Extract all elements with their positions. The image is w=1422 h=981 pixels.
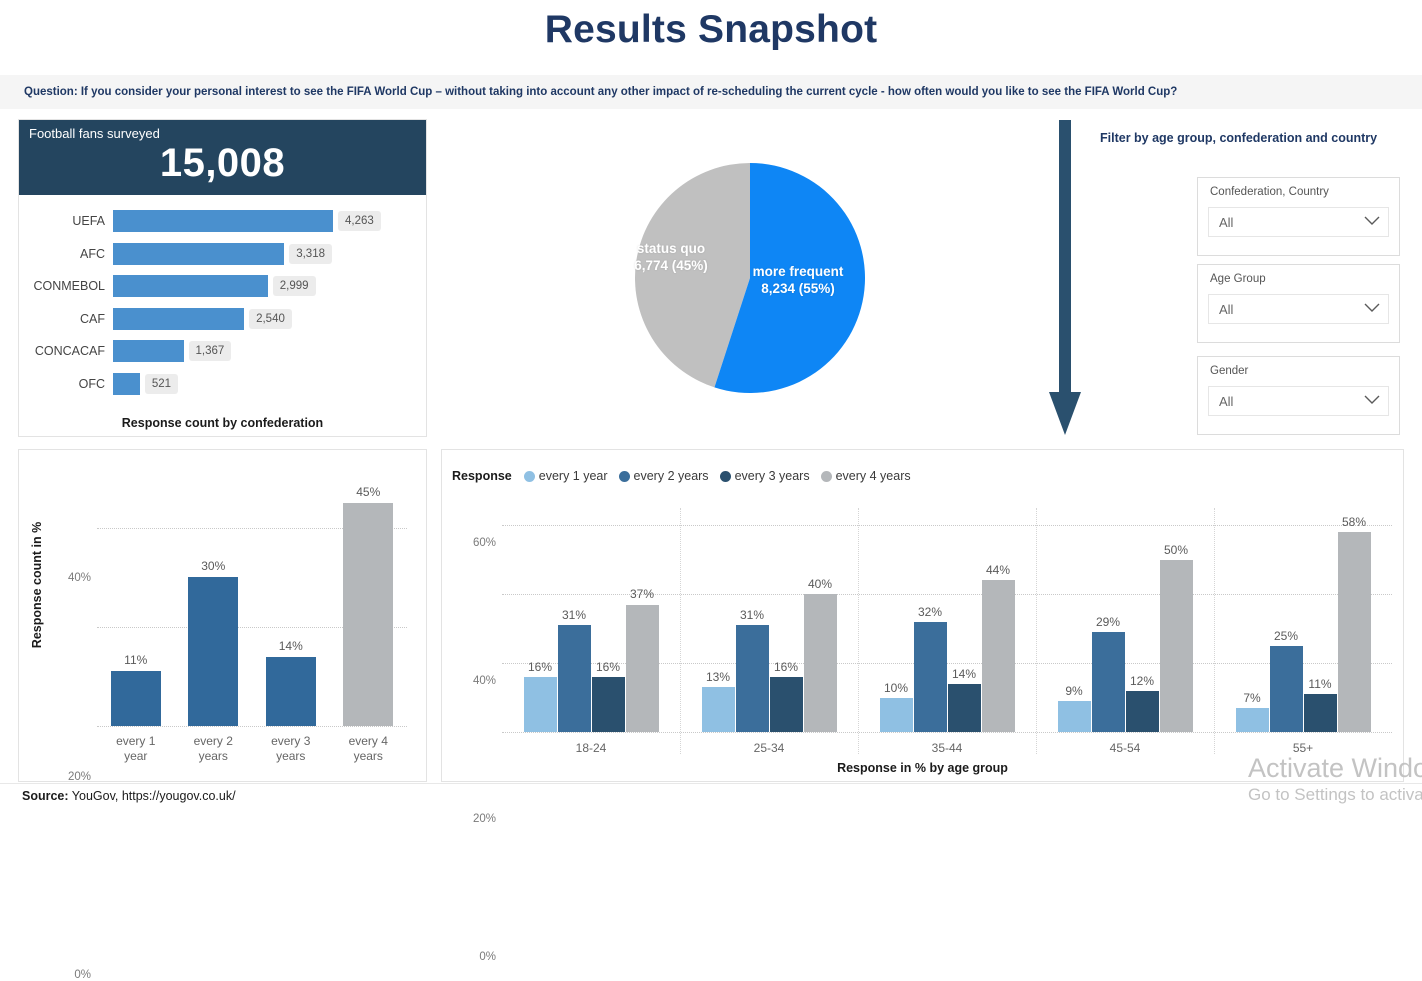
slicer-gender-value: All bbox=[1219, 394, 1233, 409]
confederation-bar-row: OFC521 bbox=[19, 370, 426, 398]
slicer-confederation-country-label: Confederation, Country bbox=[1210, 186, 1329, 198]
y-axis-tick-label: 0% bbox=[479, 951, 496, 963]
grouped-bar-value: 31% bbox=[740, 608, 764, 622]
grouped-bar-value: 16% bbox=[774, 660, 798, 674]
pie-label-more-frequent-value: 8,234 (55%) bbox=[761, 281, 835, 296]
confederation-bar-track: 2,999 bbox=[113, 273, 426, 299]
category-separator bbox=[1036, 508, 1037, 754]
column-bar-value: 11% bbox=[124, 653, 147, 667]
grouped-bar-value: 9% bbox=[1065, 684, 1082, 698]
x-axis-category-label: 18-24 bbox=[576, 741, 607, 755]
y-axis-tick-label: 40% bbox=[68, 572, 91, 584]
grouped-bar[interactable] bbox=[1092, 632, 1125, 732]
pie-label-status-quo-name: status quo bbox=[637, 241, 705, 256]
x-axis-category-label: every 3years bbox=[271, 734, 310, 764]
grouped-bar-value: 25% bbox=[1274, 629, 1298, 643]
confederation-bar-track: 4,263 bbox=[113, 208, 426, 234]
legend-label: every 3 years bbox=[735, 469, 810, 483]
confederation-bar-track: 1,367 bbox=[113, 338, 426, 364]
gridline: 0% bbox=[97, 726, 407, 727]
column-bar[interactable] bbox=[188, 577, 238, 726]
filter-panel-title: Filter by age group, confederation and c… bbox=[1100, 131, 1377, 145]
column-bar-value: 45% bbox=[356, 485, 380, 499]
grouped-chart-caption: Response in % by age group bbox=[442, 761, 1403, 775]
grouped-bar[interactable] bbox=[736, 625, 769, 732]
grouped-bar[interactable] bbox=[804, 594, 837, 732]
legend-label: every 1 year bbox=[539, 469, 608, 483]
grouped-bar-value: 58% bbox=[1342, 515, 1366, 529]
confederation-bar-fill[interactable] bbox=[113, 308, 244, 330]
confederation-bar-value: 4,263 bbox=[338, 211, 381, 231]
pie-label-status-quo-value: 6,774 (45%) bbox=[634, 258, 708, 273]
column-bar-value: 14% bbox=[279, 639, 303, 653]
slicer-gender-label: Gender bbox=[1210, 365, 1248, 377]
confederation-bar-fill[interactable] bbox=[113, 340, 184, 362]
category-separator bbox=[858, 508, 859, 754]
dashboard-page: Results Snapshot Question: If you consid… bbox=[0, 0, 1422, 815]
confederation-chart-caption: Response count by confederation bbox=[19, 416, 426, 430]
confederation-bar-row: CONMEBOL2,999 bbox=[19, 272, 426, 300]
kpi-value: 15,008 bbox=[19, 141, 426, 186]
category-separator bbox=[1214, 508, 1215, 754]
confederation-bar-label: CONMEBOL bbox=[19, 279, 113, 293]
column-chart-plot-area: 0%20%40%11%every 1year30%every 2years14%… bbox=[97, 478, 407, 726]
confederation-bar-value: 3,318 bbox=[289, 244, 332, 264]
confederation-bar-label: UEFA bbox=[19, 214, 113, 228]
legend-item[interactable]: every 2 years bbox=[619, 469, 709, 483]
grouped-bar[interactable] bbox=[982, 580, 1015, 732]
grouped-bar[interactable] bbox=[1338, 532, 1371, 732]
grouped-bar[interactable] bbox=[948, 684, 981, 732]
confederation-bar-row: AFC3,318 bbox=[19, 240, 426, 268]
column-chart-y-axis-title: Response count in % bbox=[30, 505, 44, 665]
pie-label-more-frequent: more frequent 8,234 (55%) bbox=[718, 263, 878, 297]
slicer-age-group-label: Age Group bbox=[1210, 273, 1266, 285]
column-bar[interactable] bbox=[111, 671, 161, 726]
response-split-pie-chart: status quo 6,774 (45%) more frequent 8,2… bbox=[600, 128, 900, 428]
down-arrow-icon bbox=[1048, 120, 1082, 435]
column-bar[interactable] bbox=[343, 503, 393, 726]
grouped-bar-value: 13% bbox=[706, 670, 730, 684]
confederation-bar-fill[interactable] bbox=[113, 373, 140, 395]
legend-color-swatch bbox=[619, 471, 630, 482]
slicer-confederation-country-value: All bbox=[1219, 215, 1233, 230]
y-axis-tick-label: 40% bbox=[473, 675, 496, 687]
slicer-confederation-country-dropdown[interactable]: All bbox=[1208, 207, 1389, 237]
confederation-bar-row: UEFA4,263 bbox=[19, 207, 426, 235]
chevron-down-icon[interactable] bbox=[1364, 300, 1380, 318]
grouped-bar-value: 16% bbox=[528, 660, 552, 674]
legend-color-swatch bbox=[524, 471, 535, 482]
grouped-bar-value: 50% bbox=[1164, 543, 1188, 557]
category-separator bbox=[680, 508, 681, 754]
page-title: Results Snapshot bbox=[0, 8, 1422, 52]
question-text: Question: If you consider your personal … bbox=[0, 86, 1177, 98]
overall-response-column-chart: Response count in % 0%20%40%11%every 1ye… bbox=[18, 449, 427, 782]
x-axis-category-label: 45-54 bbox=[1110, 741, 1141, 755]
confederation-bar-row: CONCACAF1,367 bbox=[19, 337, 426, 365]
grouped-bar[interactable] bbox=[1160, 560, 1193, 732]
confederation-bar-track: 2,540 bbox=[113, 306, 426, 332]
confederation-bar-value: 2,540 bbox=[249, 309, 292, 329]
confederation-bar-row: CAF2,540 bbox=[19, 305, 426, 333]
slicer-age-group[interactable]: Age Group All bbox=[1197, 264, 1400, 343]
grouped-bar[interactable] bbox=[592, 677, 625, 732]
confederation-bar-fill[interactable] bbox=[113, 275, 268, 297]
pie-label-more-frequent-name: more frequent bbox=[753, 264, 844, 279]
grouped-bar[interactable] bbox=[1058, 701, 1091, 732]
chart-legend: Response every 1 yearevery 2 yearsevery … bbox=[452, 469, 922, 483]
legend-color-swatch bbox=[821, 471, 832, 482]
legend-label: every 2 years bbox=[634, 469, 709, 483]
chevron-down-icon[interactable] bbox=[1364, 213, 1380, 231]
source-note: Source: YouGov, https://yougov.co.uk/ bbox=[22, 789, 236, 803]
grouped-bar[interactable] bbox=[1304, 694, 1337, 732]
question-banner: Question: If you consider your personal … bbox=[0, 75, 1422, 109]
grouped-bar[interactable] bbox=[880, 698, 913, 732]
legend-item[interactable]: every 3 years bbox=[720, 469, 810, 483]
slicer-confederation-country[interactable]: Confederation, Country All bbox=[1197, 177, 1400, 256]
age-group-response-chart: Response every 1 yearevery 2 yearsevery … bbox=[441, 449, 1404, 782]
chevron-down-icon[interactable] bbox=[1364, 392, 1380, 410]
watermark-line-2: Go to Settings to activate Windows. bbox=[1248, 784, 1422, 806]
grouped-bar-value: 32% bbox=[918, 605, 942, 619]
grouped-bar[interactable] bbox=[914, 622, 947, 732]
grouped-bar-value: 7% bbox=[1243, 691, 1260, 705]
grouped-bar-value: 37% bbox=[630, 587, 654, 601]
slicer-age-group-dropdown[interactable]: All bbox=[1208, 294, 1389, 324]
grouped-bar-value: 31% bbox=[562, 608, 586, 622]
grouped-bar[interactable] bbox=[558, 625, 591, 732]
grouped-bar-value: 44% bbox=[986, 563, 1010, 577]
y-axis-tick-label: 0% bbox=[74, 969, 91, 981]
grouped-bar-value: 12% bbox=[1130, 674, 1154, 688]
grouped-bar[interactable] bbox=[1126, 691, 1159, 732]
grouped-bar-value: 10% bbox=[884, 681, 908, 695]
source-text: YouGov, https://yougov.co.uk/ bbox=[72, 789, 236, 803]
kpi-header: Football fans surveyed 15,008 bbox=[19, 120, 426, 195]
grouped-bar[interactable] bbox=[1236, 708, 1269, 732]
grouped-bar-value: 14% bbox=[952, 667, 976, 681]
slicer-gender-dropdown[interactable]: All bbox=[1208, 386, 1389, 416]
column-bar[interactable] bbox=[266, 657, 316, 726]
confederation-bar-label: CAF bbox=[19, 312, 113, 326]
y-axis-tick-label: 60% bbox=[473, 537, 496, 549]
grouped-bar-value: 29% bbox=[1096, 615, 1120, 629]
legend-item[interactable]: every 1 year bbox=[524, 469, 608, 483]
grouped-bar-value: 11% bbox=[1308, 677, 1331, 691]
grouped-chart-plot-area: 0%20%40%60%16%31%16%37%18-2413%31%16%40%… bbox=[502, 508, 1392, 732]
fans-surveyed-card: Football fans surveyed 15,008 UEFA4,263A… bbox=[18, 119, 427, 437]
kpi-label: Football fans surveyed bbox=[29, 126, 160, 141]
gridline: 60% bbox=[502, 525, 1392, 526]
y-axis-tick-label: 20% bbox=[68, 771, 91, 783]
x-axis-category-label: 25-34 bbox=[754, 741, 785, 755]
grouped-bar[interactable] bbox=[1270, 646, 1303, 732]
x-axis-category-label: 35-44 bbox=[932, 741, 963, 755]
column-bar-value: 30% bbox=[201, 559, 225, 573]
confederation-bar-fill[interactable] bbox=[113, 243, 284, 265]
confederation-bar-track: 3,318 bbox=[113, 241, 426, 267]
confederation-bar-track: 521 bbox=[113, 371, 426, 397]
footer-divider bbox=[0, 783, 1422, 784]
grouped-bar-value: 40% bbox=[808, 577, 832, 591]
x-axis-category-label: every 1year bbox=[116, 734, 155, 764]
confederation-bar-value: 521 bbox=[145, 374, 178, 394]
confederation-bar-chart: UEFA4,263AFC3,318CONMEBOL2,999CAF2,540CO… bbox=[19, 195, 426, 438]
legend-label: every 4 years bbox=[836, 469, 911, 483]
grouped-bar[interactable] bbox=[524, 677, 557, 732]
x-axis-category-label: every 2years bbox=[194, 734, 233, 764]
confederation-bar-value: 1,367 bbox=[189, 341, 232, 361]
grouped-bar[interactable] bbox=[702, 687, 735, 732]
source-label: Source: bbox=[22, 789, 69, 803]
legend-item[interactable]: every 4 years bbox=[821, 469, 911, 483]
confederation-bar-label: AFC bbox=[19, 247, 113, 261]
x-axis-category-label: every 4years bbox=[349, 734, 388, 764]
grouped-bar[interactable] bbox=[626, 605, 659, 733]
slicer-gender[interactable]: Gender All bbox=[1197, 356, 1400, 435]
grouped-bar-value: 16% bbox=[596, 660, 620, 674]
confederation-bar-fill[interactable] bbox=[113, 210, 333, 232]
legend-color-swatch bbox=[720, 471, 731, 482]
gridline: 0% bbox=[502, 732, 1392, 733]
x-axis-category-label: 55+ bbox=[1293, 741, 1313, 755]
confederation-bar-label: OFC bbox=[19, 377, 113, 391]
confederation-bar-label: CONCACAF bbox=[19, 344, 113, 358]
grouped-bar[interactable] bbox=[770, 677, 803, 732]
slicer-age-group-value: All bbox=[1219, 302, 1233, 317]
confederation-bar-value: 2,999 bbox=[273, 276, 316, 296]
legend-title: Response bbox=[452, 469, 512, 483]
